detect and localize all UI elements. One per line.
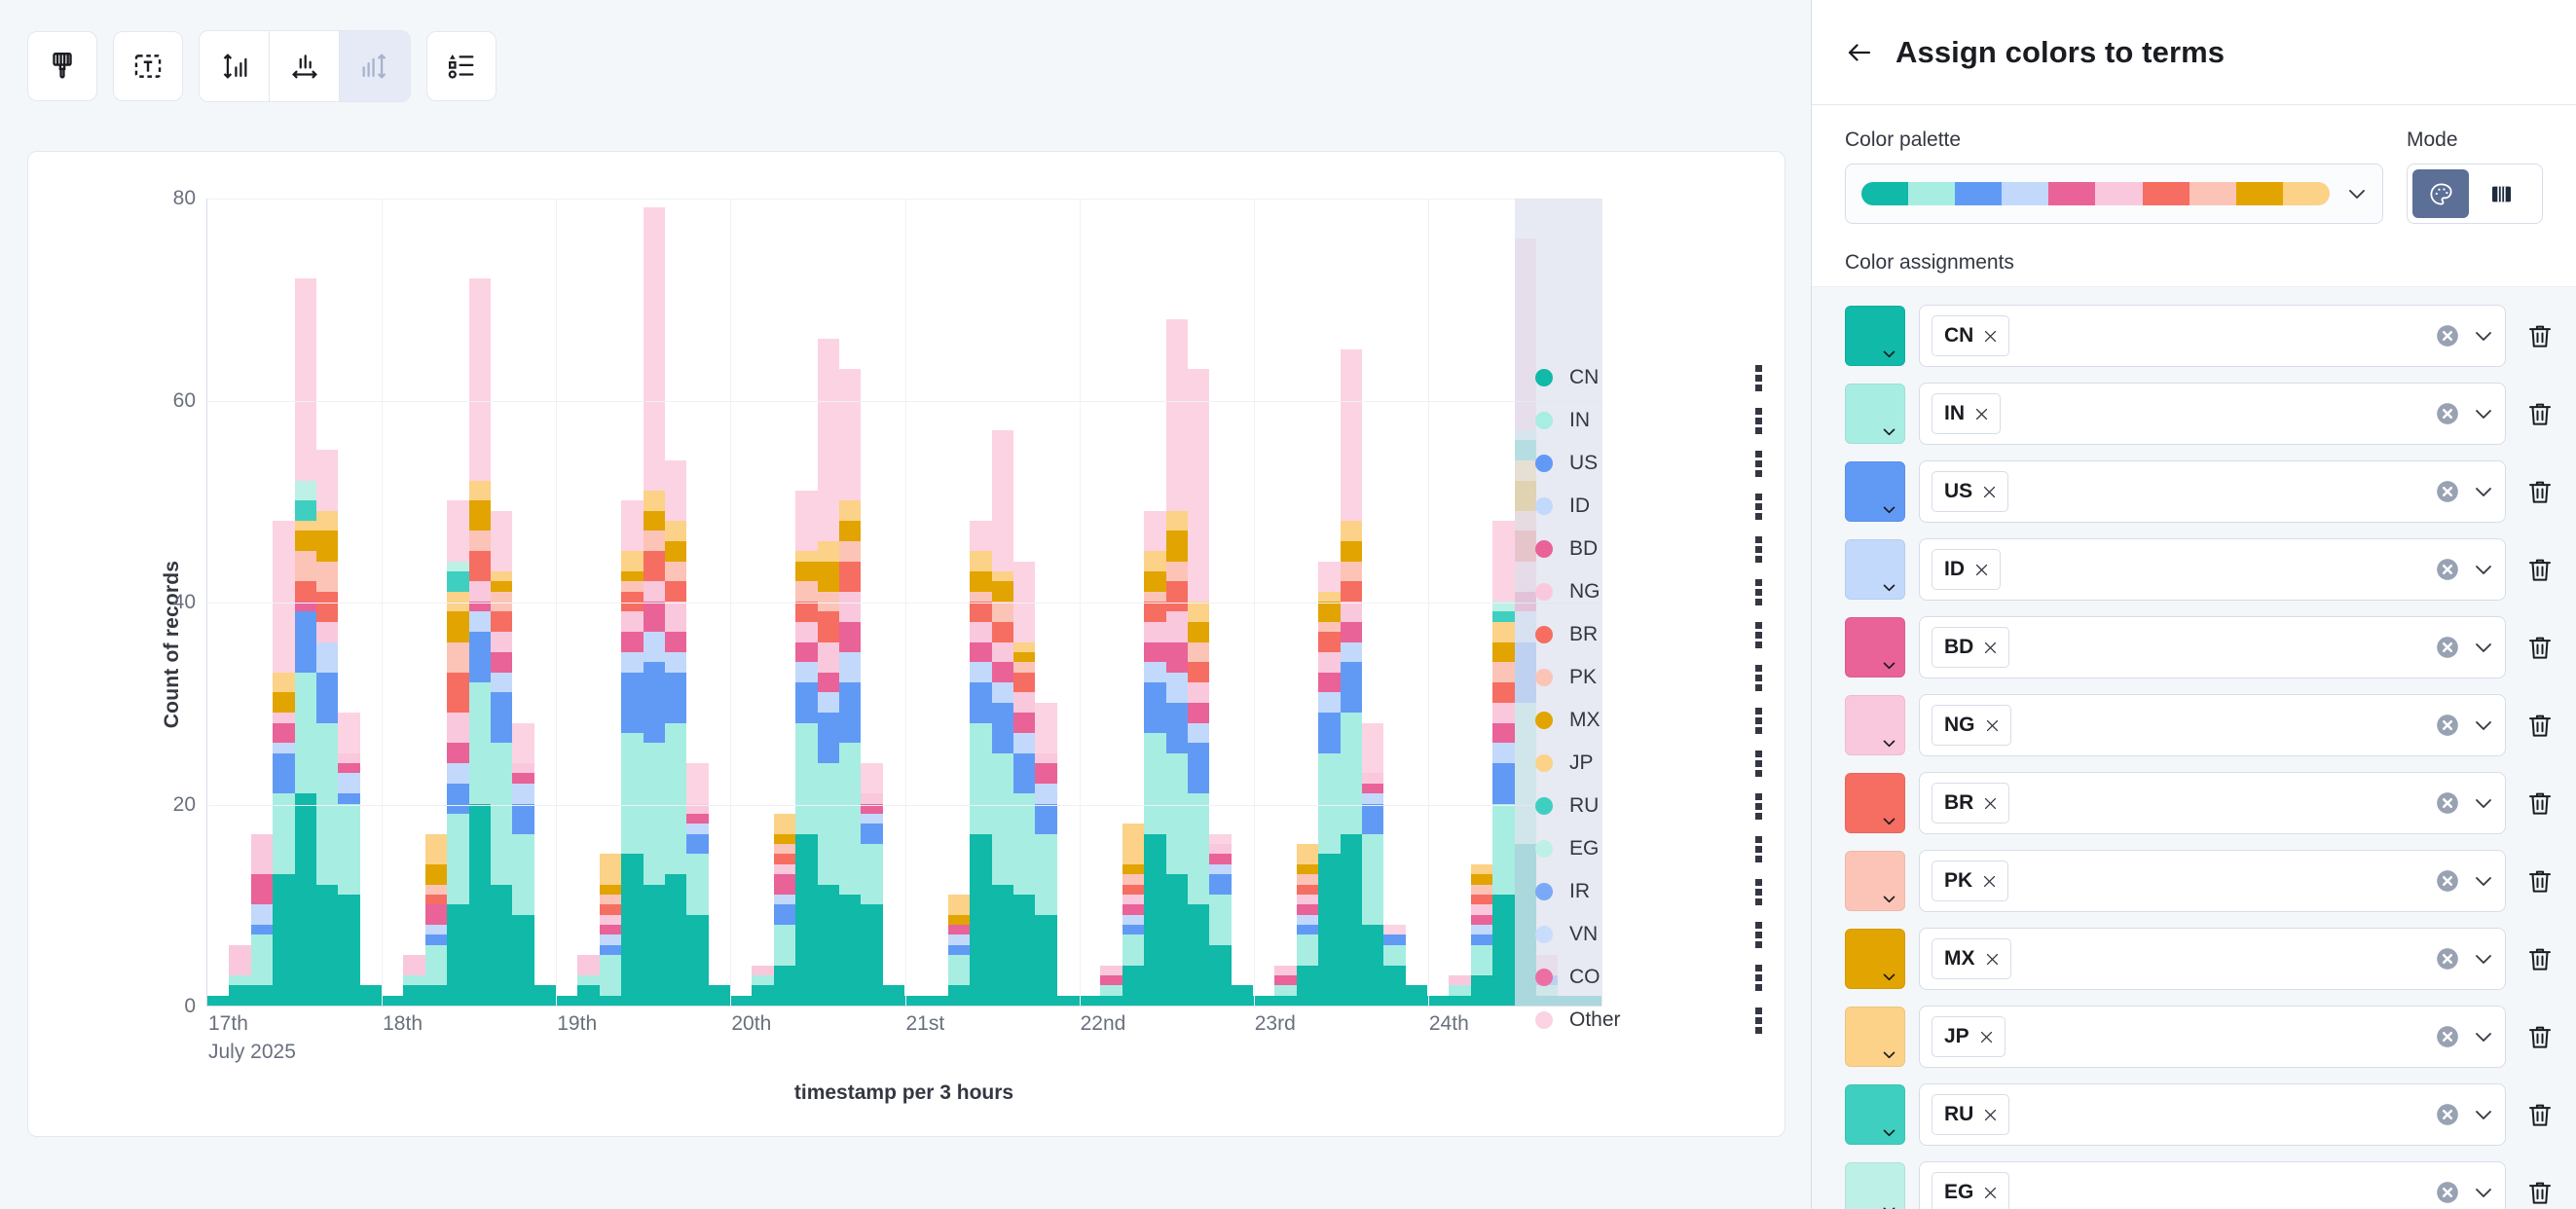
bar-segment[interactable]: [1122, 824, 1144, 864]
legend-drag-handle[interactable]: [1751, 793, 1765, 819]
bar-segment[interactable]: [447, 904, 468, 1006]
bar-segment[interactable]: [970, 682, 991, 723]
bar-segment[interactable]: [839, 592, 861, 622]
bar-segment[interactable]: [1318, 753, 1340, 855]
legend-item-br[interactable]: BR: [1535, 613, 1765, 656]
bar-segment[interactable]: [469, 531, 491, 551]
styles-button[interactable]: [27, 31, 97, 101]
bar-segment[interactable]: [447, 763, 468, 784]
bar-segment[interactable]: [774, 814, 795, 834]
bar-segment[interactable]: [1100, 985, 1122, 995]
legend-drag-handle[interactable]: [1751, 451, 1765, 476]
bar-segment[interactable]: [665, 652, 686, 673]
bar-segment[interactable]: [1122, 915, 1144, 925]
delete-assignment-icon[interactable]: [2525, 633, 2555, 662]
bar-segment[interactable]: [273, 743, 294, 752]
reverse-axis-button[interactable]: [340, 31, 410, 101]
legend-item-pk[interactable]: PK: [1535, 656, 1765, 699]
bar-segment[interactable]: [1144, 642, 1165, 663]
delete-assignment-icon[interactable]: [2525, 399, 2555, 428]
bar-segment[interactable]: [644, 662, 665, 743]
chevron-down-icon[interactable]: [2472, 324, 2495, 348]
bar-segment[interactable]: [774, 904, 795, 925]
bar-segment[interactable]: [469, 481, 491, 501]
bar-segment[interactable]: [774, 874, 795, 895]
bar-segment[interactable]: [1492, 622, 1514, 642]
bar-segment[interactable]: [1035, 784, 1056, 804]
bar-segment[interactable]: [295, 500, 316, 521]
bar-segment[interactable]: [425, 834, 447, 864]
bar-segment[interactable]: [795, 551, 817, 561]
bar-segment[interactable]: [338, 773, 359, 793]
bar-segment[interactable]: [839, 743, 861, 895]
bar-segment[interactable]: [621, 673, 643, 733]
bar-segment[interactable]: [970, 602, 991, 622]
bar-segment[interactable]: [512, 915, 534, 1006]
bar-segment[interactable]: [1232, 985, 1253, 1006]
chevron-down-icon[interactable]: [2472, 558, 2495, 581]
bar-segment[interactable]: [1341, 622, 1362, 642]
close-icon[interactable]: [1973, 406, 1990, 422]
bar-segment[interactable]: [425, 904, 447, 925]
legend-drag-handle[interactable]: [1751, 879, 1765, 904]
bar-segment[interactable]: [1362, 793, 1383, 803]
bar-segment[interactable]: [512, 763, 534, 773]
bar-segment[interactable]: [600, 904, 621, 914]
legend-drag-handle[interactable]: [1751, 665, 1765, 690]
legend-item-ng[interactable]: NG: [1535, 570, 1765, 613]
bar-segment[interactable]: [774, 925, 795, 966]
delete-assignment-icon[interactable]: [2525, 477, 2555, 506]
bar-segment[interactable]: [1492, 642, 1514, 663]
bar-segment[interactable]: [839, 521, 861, 541]
legend-item-eg[interactable]: EG: [1535, 827, 1765, 870]
bar-segment[interactable]: [1209, 945, 1231, 1006]
bar-segment[interactable]: [577, 955, 599, 975]
color-swatch-picker[interactable]: [1845, 617, 1905, 678]
bar-segment[interactable]: [1318, 592, 1340, 602]
color-swatch-picker[interactable]: [1845, 695, 1905, 755]
bar-segment[interactable]: [1209, 874, 1231, 895]
bar-segment[interactable]: [1122, 904, 1144, 914]
bar-segment[interactable]: [338, 804, 359, 895]
bar-segment[interactable]: [1297, 844, 1318, 864]
bar-segment[interactable]: [1144, 662, 1165, 682]
bar-segment[interactable]: [207, 996, 229, 1006]
bar-segment[interactable]: [491, 632, 512, 652]
bar-segment[interactable]: [447, 611, 468, 641]
bar-segment[interactable]: [839, 682, 861, 743]
bar-segment[interactable]: [469, 278, 491, 481]
bar-segment[interactable]: [665, 581, 686, 602]
legend-drag-handle[interactable]: [1751, 1007, 1765, 1033]
bar-segment[interactable]: [970, 834, 991, 1006]
bar-segment[interactable]: [1166, 581, 1188, 611]
bar-segment[interactable]: [295, 673, 316, 794]
bar-segment[interactable]: [447, 562, 468, 571]
bar-segment[interactable]: [1166, 511, 1188, 531]
bar-segment[interactable]: [1122, 885, 1144, 895]
bar-segment[interactable]: [1471, 895, 1492, 904]
legend-drag-handle[interactable]: [1751, 536, 1765, 562]
chevron-down-icon[interactable]: [2472, 1025, 2495, 1048]
color-palette-select[interactable]: [1845, 164, 2383, 224]
bar-segment[interactable]: [818, 541, 839, 562]
bar-segment[interactable]: [1341, 581, 1362, 602]
bar-segment[interactable]: [665, 632, 686, 652]
bar-segment[interactable]: [316, 592, 338, 622]
legend-item-co[interactable]: CO: [1535, 956, 1765, 999]
bar-segment[interactable]: [1427, 996, 1449, 1006]
bar-segment[interactable]: [686, 814, 708, 824]
bar-segment[interactable]: [1471, 975, 1492, 1006]
close-icon[interactable]: [1984, 951, 2001, 968]
bar-segment[interactable]: [425, 934, 447, 944]
bar-segment[interactable]: [600, 934, 621, 944]
bar-segment[interactable]: [730, 996, 752, 1006]
bar-segment[interactable]: [774, 864, 795, 874]
bar-segment[interactable]: [425, 925, 447, 934]
bar-segment[interactable]: [447, 784, 468, 814]
bar-segment[interactable]: [403, 955, 424, 975]
clear-selection-icon[interactable]: [2435, 635, 2460, 660]
bar-segment[interactable]: [752, 985, 773, 1006]
bar-segment[interactable]: [1341, 662, 1362, 713]
bar-segment[interactable]: [621, 733, 643, 855]
bar-segment[interactable]: [861, 763, 882, 793]
bar-segment[interactable]: [621, 592, 643, 612]
bar-segment[interactable]: [644, 602, 665, 632]
delete-assignment-icon[interactable]: [2525, 1022, 2555, 1051]
bar-segment[interactable]: [1492, 804, 1514, 895]
bar-segment[interactable]: [1471, 864, 1492, 874]
bar-segment[interactable]: [1406, 985, 1427, 1006]
bar-segment[interactable]: [665, 723, 686, 875]
delete-assignment-icon[interactable]: [2525, 1100, 2555, 1129]
color-swatch-picker[interactable]: [1845, 1084, 1905, 1145]
legend-item-bd[interactable]: BD: [1535, 528, 1765, 570]
bar-segment[interactable]: [251, 904, 273, 925]
color-swatch-picker[interactable]: [1845, 773, 1905, 833]
bar-segment[interactable]: [970, 571, 991, 592]
bar-segment[interactable]: [621, 581, 643, 591]
bar-segment[interactable]: [1079, 996, 1100, 1006]
bar-segment[interactable]: [948, 895, 970, 915]
bar-segment[interactable]: [1318, 602, 1340, 622]
bar-segment[interactable]: [839, 622, 861, 652]
bar-segment[interactable]: [621, 632, 643, 652]
clear-selection-icon[interactable]: [2435, 1102, 2460, 1127]
bar-segment[interactable]: [992, 571, 1013, 581]
bar-segment[interactable]: [251, 934, 273, 985]
term-combobox[interactable]: BR: [1919, 772, 2506, 834]
bar-segment[interactable]: [447, 592, 468, 612]
bar-segment[interactable]: [1362, 784, 1383, 793]
bar-segment[interactable]: [948, 985, 970, 1006]
bar-segment[interactable]: [1471, 874, 1492, 884]
bar-segment[interactable]: [1297, 895, 1318, 904]
color-swatch-picker[interactable]: [1845, 306, 1905, 366]
bar-segment[interactable]: [1013, 793, 1035, 895]
bar-segment[interactable]: [752, 966, 773, 975]
bar-segment[interactable]: [795, 622, 817, 642]
bar-segment[interactable]: [273, 793, 294, 874]
close-icon[interactable]: [1982, 1107, 1999, 1123]
bar-segment[interactable]: [948, 925, 970, 934]
bar-segment[interactable]: [295, 531, 316, 551]
bar-segment[interactable]: [1122, 934, 1144, 965]
term-combobox[interactable]: CN: [1919, 305, 2506, 367]
bar-segment[interactable]: [621, 854, 643, 1006]
bar-segment[interactable]: [295, 278, 316, 481]
bar-segment[interactable]: [665, 541, 686, 562]
bar-segment[interactable]: [926, 996, 947, 1006]
bar-segment[interactable]: [1035, 915, 1056, 1006]
bar-segment[interactable]: [491, 652, 512, 673]
legend-item-in[interactable]: IN: [1535, 399, 1765, 442]
bar-segment[interactable]: [447, 571, 468, 592]
bar-segment[interactable]: [1122, 864, 1144, 874]
close-icon[interactable]: [1973, 562, 1990, 578]
bar-segment[interactable]: [469, 632, 491, 682]
bar-segment[interactable]: [273, 874, 294, 1006]
bar-segment[interactable]: [338, 793, 359, 803]
bar-segment[interactable]: [795, 723, 817, 834]
bar-segment[interactable]: [273, 673, 294, 693]
bar-segment[interactable]: [970, 642, 991, 663]
bar-segment[interactable]: [338, 895, 359, 1006]
bar-segment[interactable]: [818, 673, 839, 693]
bar-segment[interactable]: [403, 975, 424, 985]
bar-segment[interactable]: [1492, 521, 1514, 602]
horizontal-axis-button[interactable]: [270, 31, 340, 101]
legend-item-id[interactable]: ID: [1535, 485, 1765, 528]
delete-assignment-icon[interactable]: [2525, 944, 2555, 973]
bar-segment[interactable]: [1122, 966, 1144, 1007]
color-swatch-picker[interactable]: [1845, 929, 1905, 989]
legend-drag-handle[interactable]: [1751, 494, 1765, 519]
color-swatch-picker[interactable]: [1845, 461, 1905, 522]
bar-segment[interactable]: [447, 500, 468, 561]
bar-segment[interactable]: [1318, 673, 1340, 693]
close-icon[interactable]: [1982, 640, 1999, 656]
delete-assignment-icon[interactable]: [2525, 1178, 2555, 1207]
bar-segment[interactable]: [818, 763, 839, 885]
bar-segment[interactable]: [1013, 652, 1035, 662]
close-icon[interactable]: [1982, 328, 1999, 345]
bar-segment[interactable]: [795, 562, 817, 582]
bar-segment[interactable]: [600, 854, 621, 884]
bar-segment[interactable]: [774, 844, 795, 854]
chevron-down-icon[interactable]: [2472, 869, 2495, 893]
bar-segment[interactable]: [1383, 925, 1405, 934]
bar-segment[interactable]: [1057, 996, 1079, 1006]
bar-segment[interactable]: [861, 844, 882, 904]
bar-segment[interactable]: [992, 622, 1013, 642]
bar-segment[interactable]: [818, 642, 839, 673]
bar-segment[interactable]: [1362, 834, 1383, 925]
clear-selection-icon[interactable]: [2435, 713, 2460, 738]
bar-segment[interactable]: [316, 562, 338, 592]
arrow-left-icon[interactable]: [1845, 38, 1874, 67]
bar-segment[interactable]: [316, 642, 338, 673]
bar-segment[interactable]: [600, 925, 621, 934]
bar-segment[interactable]: [1188, 723, 1209, 744]
bar-segment[interactable]: [795, 581, 817, 602]
bar-segment[interactable]: [1449, 996, 1470, 1006]
term-combobox[interactable]: IN: [1919, 383, 2506, 445]
bar-segment[interactable]: [512, 834, 534, 915]
bar-segment[interactable]: [1035, 703, 1056, 753]
bar-segment[interactable]: [1449, 975, 1470, 985]
bar-segment[interactable]: [1209, 844, 1231, 854]
close-icon[interactable]: [1982, 795, 1999, 812]
bar-segment[interactable]: [1318, 562, 1340, 592]
bar-segment[interactable]: [1166, 753, 1188, 875]
bar-segment[interactable]: [469, 611, 491, 632]
bar-segment[interactable]: [491, 611, 512, 632]
bar-segment[interactable]: [709, 985, 730, 1006]
bar-segment[interactable]: [644, 531, 665, 551]
bar-segment[interactable]: [1209, 834, 1231, 844]
bar-segment[interactable]: [425, 864, 447, 885]
chevron-down-icon[interactable]: [2472, 791, 2495, 815]
bar-segment[interactable]: [600, 915, 621, 925]
bar-segment[interactable]: [1471, 915, 1492, 925]
bar-segment[interactable]: [970, 622, 991, 642]
bar-segment[interactable]: [1341, 541, 1362, 562]
bar-segment[interactable]: [1471, 925, 1492, 934]
bar-segment[interactable]: [316, 450, 338, 510]
bar-segment[interactable]: [774, 895, 795, 904]
bar-segment[interactable]: [600, 955, 621, 996]
bar-segment[interactable]: [1144, 834, 1165, 1006]
bar-segment[interactable]: [1144, 592, 1165, 602]
close-icon[interactable]: [1978, 1029, 1995, 1045]
bar-segment[interactable]: [1362, 925, 1383, 1006]
bar-segment[interactable]: [948, 915, 970, 925]
bar-segment[interactable]: [818, 713, 839, 763]
bar-segment[interactable]: [992, 885, 1013, 1007]
bar-segment[interactable]: [469, 500, 491, 531]
vertical-axis-button[interactable]: [200, 31, 270, 101]
bar-segment[interactable]: [295, 521, 316, 531]
bar-segment[interactable]: [1166, 673, 1188, 703]
bar-segment[interactable]: [512, 773, 534, 783]
bar-segment[interactable]: [861, 793, 882, 803]
bar-segment[interactable]: [1341, 562, 1362, 582]
delete-assignment-icon[interactable]: [2525, 866, 2555, 896]
bar-segment[interactable]: [818, 339, 839, 541]
term-combobox[interactable]: US: [1919, 460, 2506, 523]
bar-segment[interactable]: [1492, 723, 1514, 744]
bar-segment[interactable]: [425, 985, 447, 1006]
term-combobox[interactable]: JP: [1919, 1006, 2506, 1068]
bar-segment[interactable]: [1188, 369, 1209, 602]
bar-segment[interactable]: [1297, 864, 1318, 874]
bar-segment[interactable]: [1341, 713, 1362, 834]
chevron-down-icon[interactable]: [2472, 714, 2495, 737]
bar-segment[interactable]: [1013, 733, 1035, 753]
bar-segment[interactable]: [992, 581, 1013, 602]
bar-segment[interactable]: [273, 713, 294, 722]
bar-segment[interactable]: [686, 763, 708, 804]
bar-segment[interactable]: [512, 784, 534, 804]
clear-selection-icon[interactable]: [2435, 479, 2460, 504]
bar-segment[interactable]: [229, 985, 250, 1006]
bar-segment[interactable]: [447, 814, 468, 904]
bar-segment[interactable]: [992, 430, 1013, 571]
bar-segment[interactable]: [1166, 611, 1188, 641]
legend-drag-handle[interactable]: [1751, 365, 1765, 390]
bar-segment[interactable]: [970, 592, 991, 602]
bar-segment[interactable]: [1209, 895, 1231, 945]
color-swatch-picker[interactable]: [1845, 1162, 1905, 1209]
term-combobox[interactable]: PK: [1919, 850, 2506, 912]
bar-segment[interactable]: [1188, 642, 1209, 663]
bar-segment[interactable]: [1362, 804, 1383, 834]
term-combobox[interactable]: EG: [1919, 1161, 2506, 1209]
bar-segment[interactable]: [1341, 834, 1362, 1006]
bar-segment[interactable]: [621, 652, 643, 673]
bar-segment[interactable]: [1318, 692, 1340, 713]
bar-segment[interactable]: [1471, 904, 1492, 914]
bar-segment[interactable]: [251, 985, 273, 1006]
bar-segment[interactable]: [251, 874, 273, 904]
legend-drag-handle[interactable]: [1751, 965, 1765, 990]
bar-segment[interactable]: [839, 500, 861, 521]
bar-segment[interactable]: [1144, 622, 1165, 642]
bar-segment[interactable]: [534, 985, 556, 1006]
bar-segment[interactable]: [403, 985, 424, 1006]
bar-segment[interactable]: [295, 581, 316, 602]
legend-item-mx[interactable]: MX: [1535, 699, 1765, 742]
bar-segment[interactable]: [491, 885, 512, 1007]
chevron-down-icon[interactable]: [2472, 636, 2495, 659]
legend-item-ir[interactable]: IR: [1535, 870, 1765, 913]
bar-segment[interactable]: [686, 824, 708, 833]
bar-segment[interactable]: [338, 763, 359, 773]
bar-segment[interactable]: [1383, 934, 1405, 944]
clear-selection-icon[interactable]: [2435, 323, 2460, 348]
bar-segment[interactable]: [1297, 915, 1318, 925]
clear-selection-icon[interactable]: [2435, 1024, 2460, 1049]
bar-segment[interactable]: [774, 854, 795, 863]
bar-segment[interactable]: [1013, 713, 1035, 733]
bar-segment[interactable]: [1492, 682, 1514, 703]
bar-segment[interactable]: [1188, 793, 1209, 904]
bar-segment[interactable]: [425, 885, 447, 895]
bar-segment[interactable]: [1492, 895, 1514, 1006]
bar-segment[interactable]: [1492, 703, 1514, 723]
bar-segment[interactable]: [1188, 904, 1209, 1006]
bar-segment[interactable]: [1253, 996, 1274, 1006]
bar-segment[interactable]: [795, 662, 817, 682]
chevron-down-icon[interactable]: [2472, 1103, 2495, 1126]
bar-segment[interactable]: [491, 743, 512, 884]
bar-segment[interactable]: [1100, 975, 1122, 985]
bar-segment[interactable]: [1383, 966, 1405, 1007]
bar-segment[interactable]: [970, 723, 991, 834]
bar-segment[interactable]: [491, 571, 512, 581]
bar-segment[interactable]: [621, 611, 643, 632]
clear-selection-icon[interactable]: [2435, 790, 2460, 816]
bar-segment[interactable]: [1035, 753, 1056, 763]
bar-segment[interactable]: [491, 673, 512, 693]
legend-drag-handle[interactable]: [1751, 579, 1765, 604]
term-combobox[interactable]: RU: [1919, 1083, 2506, 1146]
bar-segment[interactable]: [577, 985, 599, 1006]
